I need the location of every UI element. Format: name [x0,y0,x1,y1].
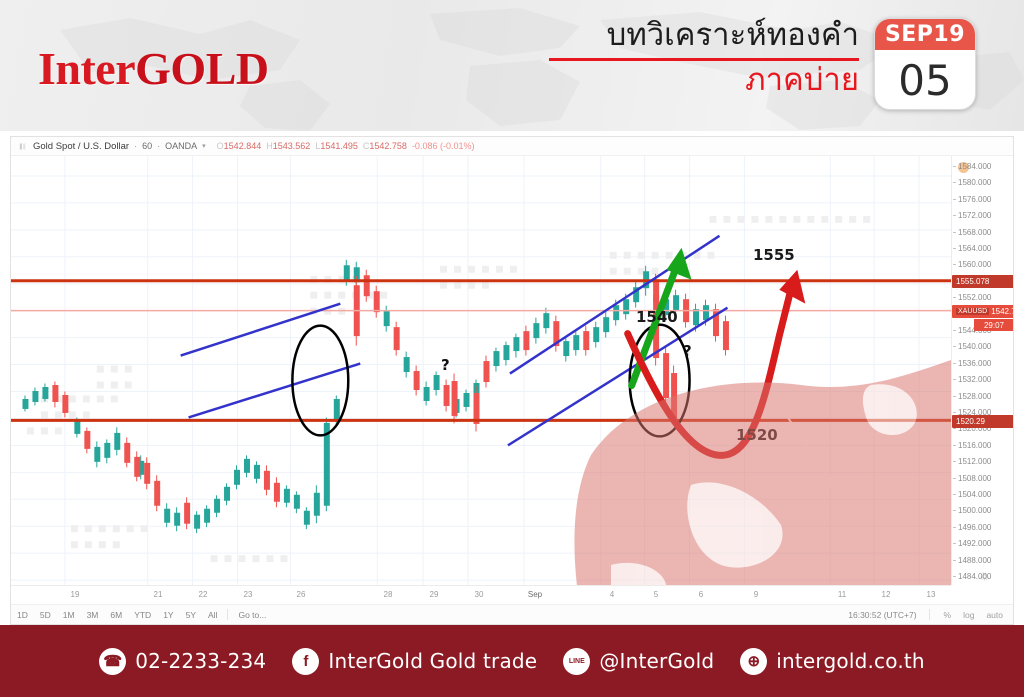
timeframe-1d[interactable]: 1D [11,610,34,620]
line-icon[interactable]: LINE [563,648,590,675]
toolbar-divider [227,609,228,620]
chart-footer-right[interactable]: 16:30:52 (UTC+7) % log auto [848,609,1013,620]
phone-icon[interactable]: ☎ [99,648,126,675]
time-tick: 23 [244,590,253,599]
toggle-auto[interactable]: auto [984,610,1005,620]
trendline-lower-right [508,308,728,446]
annotation-question-2: ? [683,342,692,360]
logo-text-gold: GOLD [135,43,268,94]
contact-text: InterGold Gold trade [328,649,537,673]
facebook-icon[interactable]: f [292,648,319,675]
time-tick: 29 [430,590,439,599]
contact-item[interactable]: fInterGold Gold trade [292,648,537,675]
price-badge-resistance: 1555.078 [952,275,1013,288]
calendar-badge: SEP19 05 [874,18,976,110]
trendline-lower-left [189,364,361,418]
settings-gear-icon[interactable] [980,572,989,581]
title-divider [549,58,859,61]
trendline-upper-left [181,304,341,356]
calendar-day: 05 [875,50,975,110]
contact-item[interactable]: ⊕intergold.co.th [740,648,925,675]
time-tick: 13 [927,590,936,599]
close-value: 1542.758 [369,141,407,151]
time-tick: 4 [610,590,614,599]
globe-icon[interactable]: ⊕ [740,648,767,675]
tradingview-chart[interactable]: Gold Spot / U.S. Dollar · 60 · OANDA ▾ O… [10,136,1014,625]
symbol-tag: XAUUSD [956,308,989,315]
chart-interval[interactable]: 60 [142,141,152,151]
symbol-name[interactable]: Gold Spot / U.S. Dollar [33,141,129,152]
chevron-down-icon[interactable]: ▾ [202,142,206,150]
chart-clock: 16:30:52 (UTC+7) [848,610,916,620]
chart-toolbar[interactable]: Gold Spot / U.S. Dollar · 60 · OANDA ▾ O… [11,137,1013,156]
price-tick: 1568.000 [958,228,991,237]
price-badge-current: XAUUSD1542.758 [952,305,1013,318]
price-tick: 1496.000 [958,523,991,532]
price-tick: 1512.000 [958,457,991,466]
time-tick: 22 [199,590,208,599]
current-price: 1542.758 [991,307,1013,316]
price-tick: 1528.000 [958,392,991,401]
logo-text-inter: Inter [38,43,135,94]
page-subtitle: ภาคบ่าย [549,63,859,99]
timeframe-1m[interactable]: 1M [57,610,81,620]
contact-text: intergold.co.th [776,649,925,673]
contact-text: 02-2233-234 [135,649,266,673]
annotation-label-1520: 1520 [736,426,778,444]
contact-footer: ☎02-2233-234fInterGold Gold tradeLINE@In… [0,625,1024,697]
price-tick: 1584.000 [958,162,991,171]
price-tick: 1500.000 [958,506,991,515]
price-tick: 1564.000 [958,244,991,253]
timeframe-6m[interactable]: 6M [104,610,128,620]
time-tick: Sep [528,590,542,599]
price-tick: 1540.000 [958,342,991,351]
price-tick: 1572.000 [958,211,991,220]
chart-annotations [11,156,951,585]
page-header: InterGOLD บทวิเคราะห์ทองคำ ภาคบ่าย SEP19… [0,0,1024,131]
price-tick: 1492.000 [958,539,991,548]
time-tick: 11 [838,590,846,599]
timeframe-1y[interactable]: 1Y [157,610,179,620]
timeframe-all[interactable]: All [202,610,223,620]
toggle-log[interactable]: log [961,610,976,620]
time-tick: 5 [654,590,658,599]
time-tick: 26 [297,590,306,599]
red-forecast-arrow [628,270,806,456]
high-value: 1543.562 [273,141,311,151]
contact-item[interactable]: LINE@InterGold [563,648,714,675]
price-tick: 1552.000 [958,293,991,302]
price-axis[interactable]: 1584.0001580.0001576.0001572.0001568.000… [951,156,1013,585]
price-badge-support: 1520.29 [952,415,1013,428]
time-tick: 21 [154,590,163,599]
annotation-label-1540: 1540 [636,308,678,326]
price-tick: 1516.000 [958,441,991,450]
goto-button[interactable]: Go to... [232,610,272,620]
toggle-percent[interactable]: % [942,610,954,620]
time-tick: 19 [71,590,80,599]
toolbar-divider-2 [929,609,930,620]
bar-countdown: 29:07 [974,319,1013,331]
time-tick: 6 [699,590,703,599]
price-tick: 1576.000 [958,195,991,204]
ohlc-values: O1542.844 H1543.562 L1541.495 C1542.758 … [217,141,475,151]
brand-logo: InterGOLD [38,42,269,95]
price-tick: 1580.000 [958,178,991,187]
open-value: 1542.844 [224,141,262,151]
time-tick: 30 [475,590,484,599]
price-tick: 1508.000 [958,474,991,483]
time-axis[interactable]: 1921222326282930Sep4569111213 [11,585,951,604]
header-title-block: บทวิเคราะห์ทองคำ ภาคบ่าย [549,18,859,98]
price-tick: 1532.000 [958,375,991,384]
calendar-month: SEP19 [875,19,975,50]
timeframe-5d[interactable]: 5D [34,610,57,620]
page-title: บทวิเคราะห์ทองคำ [549,18,859,54]
price-tick: 1504.000 [958,490,991,499]
chart-exchange[interactable]: OANDA [165,141,197,151]
timeframe-5y[interactable]: 5Y [180,610,202,620]
annotation-label-1555: 1555 [753,246,795,264]
visibility-icon[interactable] [19,142,28,151]
low-value: 1541.495 [320,141,358,151]
chart-footer-toolbar[interactable]: 1D5D1M3M6MYTD1Y5YAll Go to... 16:30:52 (… [11,604,1013,624]
annotation-question-1: ? [441,356,450,374]
timeframe-3m[interactable]: 3M [81,610,105,620]
change-value: -0.086 (-0.01%) [412,141,475,151]
time-tick: 9 [754,590,758,599]
price-tick: 1560.000 [958,260,991,269]
time-tick: 28 [384,590,393,599]
price-tick: 1488.000 [958,556,991,565]
open-label: O [217,141,224,151]
chart-plot-area[interactable]: 1555 1540 1520 ? ? [11,156,951,585]
timeframe-buttons[interactable]: 1D5D1M3M6MYTD1Y5YAll [11,610,223,620]
contact-item[interactable]: ☎02-2233-234 [99,648,266,675]
time-tick: 12 [882,590,891,599]
timeframe-ytd[interactable]: YTD [128,610,157,620]
price-tick: 1536.000 [958,359,991,368]
contact-text: @InterGold [599,649,714,673]
